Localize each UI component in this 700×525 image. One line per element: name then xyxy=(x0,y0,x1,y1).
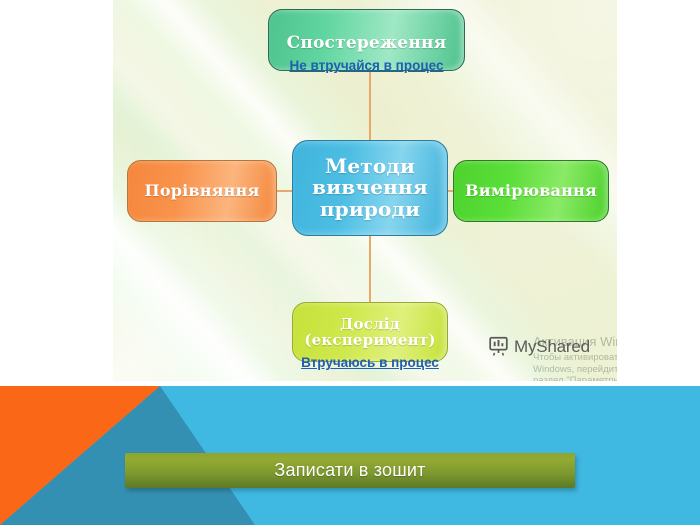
node-experiment-title: Дослід(експеримент) xyxy=(304,316,435,348)
node-observation-title: Спостереження xyxy=(287,34,447,52)
node-experiment-sublabel: Втручаюсь в процес xyxy=(285,355,455,370)
connector-center-to-compare xyxy=(277,190,293,192)
write-in-notebook-button-label: Записати в зошит xyxy=(274,460,425,481)
bottom-banner: Записати в зошит xyxy=(0,386,700,525)
connector-center-to-observation xyxy=(369,71,371,141)
node-measure-title: Вимірювання xyxy=(465,182,597,199)
node-center-methods[interactable]: Методививченняприроди xyxy=(292,140,448,236)
write-in-notebook-button[interactable]: Записати в зошит xyxy=(125,453,575,488)
node-observation-sublabel: Не втручайся в процес xyxy=(268,58,465,73)
node-compare[interactable]: Порівняння xyxy=(127,160,277,222)
presentation-slide: Спостереження Не втручайся в процес Порі… xyxy=(0,0,700,525)
diagram-image: Спостереження Не втручайся в процес Порі… xyxy=(113,0,617,381)
presentation-chart-icon xyxy=(488,336,509,357)
myshared-watermark: MyShared xyxy=(488,336,590,357)
connector-center-to-experiment xyxy=(369,236,371,302)
node-measure[interactable]: Вимірювання xyxy=(453,160,609,222)
node-experiment[interactable]: Дослід(експеримент) xyxy=(292,302,448,362)
node-center-title: Методививченняприроди xyxy=(312,156,428,221)
myshared-label: MyShared xyxy=(514,337,590,357)
node-compare-title: Порівняння xyxy=(145,182,260,199)
